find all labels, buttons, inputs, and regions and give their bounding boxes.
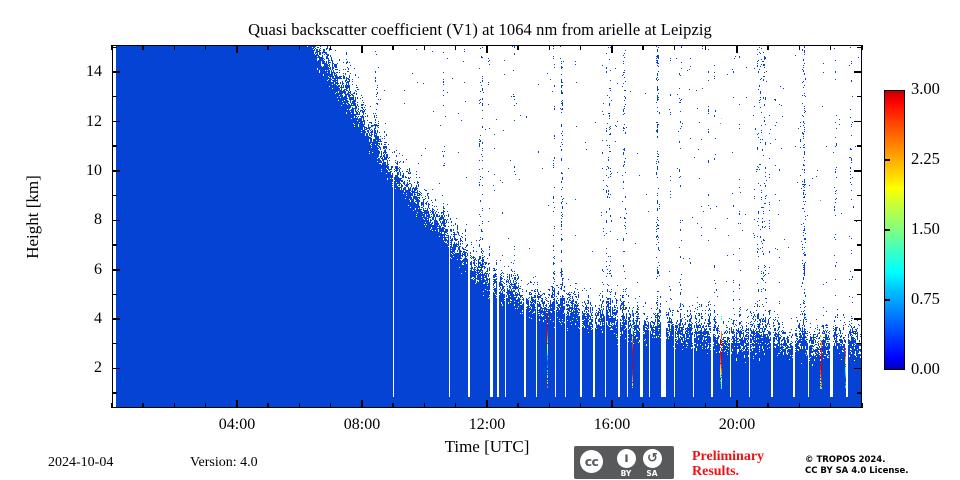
x-tick-top-6 [299,45,300,50]
x-tick-top-20 [736,45,738,53]
y-tick-label-4: 4 [62,310,102,328]
y-tick-right-15 [857,47,862,48]
x-tick-top-3 [205,45,206,50]
x-tick-15 [580,403,581,408]
x-tick-label-16:00: 16:00 [567,416,657,434]
x-tick-top-14 [549,45,550,50]
y-tick-4 [112,318,120,320]
x-tick-24 [861,403,862,408]
x-tick-23 [830,403,831,408]
colorbar-tick-2.25 [884,159,890,161]
x-tick-19 [705,403,706,408]
y-tick-5 [112,294,117,295]
colorbar-label-2.25: 2.25 [911,150,940,168]
copyright-notice: © TROPOS 2024. CC BY SA 4.0 License. [805,455,908,477]
y-tick-14 [112,71,120,73]
preliminary-line-1: Preliminary [692,449,764,464]
x-tick-9 [392,403,393,408]
y-tick-right-4 [854,318,862,320]
x-tick-18 [674,403,675,408]
y-tick-right-6 [854,269,862,271]
y-tick-right-10 [854,170,862,172]
y-tick-label-12: 12 [62,113,102,131]
x-tick-top-18 [674,45,675,50]
y-tick-right-13 [857,96,862,97]
y-tick-11 [112,145,117,146]
preliminary-results-notice: Preliminary Results. [692,449,764,479]
y-tick-right-5 [857,294,862,295]
x-tick-label-04:00: 04:00 [192,416,282,434]
x-tick-13 [517,403,518,408]
y-tick-label-6: 6 [62,261,102,279]
x-tick-top-7 [330,45,331,50]
x-tick-10 [424,403,425,408]
heatmap-canvas [113,46,862,408]
x-tick-11 [455,403,456,408]
y-axis-title: Height [km] [23,137,43,297]
x-tick-3 [205,403,206,408]
x-tick-20 [736,400,738,408]
x-tick-top-11 [455,45,456,50]
x-tick-top-17 [642,45,643,50]
y-tick-right-14 [854,71,862,73]
x-tick-4 [236,400,238,408]
x-tick-top-2 [174,45,175,50]
x-tick-top-4 [236,45,238,53]
y-tick-6 [112,269,120,271]
page-title: Quasi backscatter coefficient (V1) at 10… [0,20,960,40]
x-tick-top-9 [392,45,393,50]
colorbar-label-0.00: 0.00 [911,360,940,378]
y-tick-label-10: 10 [62,162,102,180]
cc-by-label: BY [616,469,636,478]
x-tick-7 [330,403,331,408]
x-tick-top-10 [424,45,425,50]
x-tick-21 [767,403,768,408]
x-tick-top-12 [486,45,488,53]
cc-sa-icon: ↺ [643,449,662,468]
cc-sa-label: SA [642,469,662,478]
y-tick-right-1 [857,392,862,393]
x-tick-2 [174,403,175,408]
y-tick-label-14: 14 [62,63,102,81]
copyright-line-1: © TROPOS 2024. [805,455,908,466]
y-tick-7 [112,244,117,245]
x-tick-label-12:00: 12:00 [442,416,532,434]
x-tick-0 [111,403,112,408]
x-tick-top-19 [705,45,706,50]
colorbar-label-1.50: 1.50 [911,220,940,238]
footer-date: 2024-10-04 [48,455,113,471]
x-tick-label-08:00: 08:00 [317,416,407,434]
y-tick-right-9 [857,195,862,196]
colorbar-label-0.75: 0.75 [911,290,940,308]
x-tick-17 [642,403,643,408]
x-tick-8 [361,400,363,408]
y-tick-right-2 [854,368,862,370]
y-tick-9 [112,195,117,196]
x-tick-top-21 [767,45,768,50]
colorbar-tick-0.75 [884,299,890,301]
y-tick-2 [112,368,120,370]
x-tick-5 [267,403,268,408]
y-tick-12 [112,121,120,123]
y-tick-3 [112,343,117,344]
y-tick-right-11 [857,145,862,146]
creative-commons-badge[interactable]: cc ı ↺ BY SA [574,446,674,479]
x-tick-16 [611,400,613,408]
x-tick-1 [142,403,143,408]
x-tick-top-23 [830,45,831,50]
plot-area[interactable] [112,45,862,408]
x-tick-label-20:00: 20:00 [692,416,782,434]
y-tick-label-2: 2 [62,359,102,377]
y-tick-right-12 [854,121,862,123]
x-tick-top-13 [517,45,518,50]
x-tick-top-22 [799,45,800,50]
x-tick-top-5 [267,45,268,50]
x-tick-14 [549,403,550,408]
copyright-line-2: CC BY SA 4.0 License. [805,466,908,477]
y-tick-13 [112,96,117,97]
x-tick-top-8 [361,45,363,53]
cc-by-icon: ı [617,449,636,468]
x-tick-top-16 [611,45,613,53]
x-tick-top-15 [580,45,581,50]
y-tick-right-8 [854,220,862,222]
y-tick-15 [112,47,117,48]
y-tick-label-8: 8 [62,211,102,229]
x-tick-22 [799,403,800,408]
x-tick-top-1 [142,45,143,50]
footer-version: Version: 4.0 [190,455,258,471]
preliminary-line-2: Results. [692,464,764,479]
x-tick-12 [486,400,488,408]
x-tick-6 [299,403,300,408]
y-tick-right-7 [857,244,862,245]
cc-logo-icon: cc [580,450,603,473]
y-tick-1 [112,392,117,393]
y-tick-right-3 [857,343,862,344]
y-tick-8 [112,220,120,222]
colorbar-tick-1.50 [884,229,890,231]
y-tick-10 [112,170,120,172]
colorbar-label-3.00: 3.00 [911,80,940,98]
